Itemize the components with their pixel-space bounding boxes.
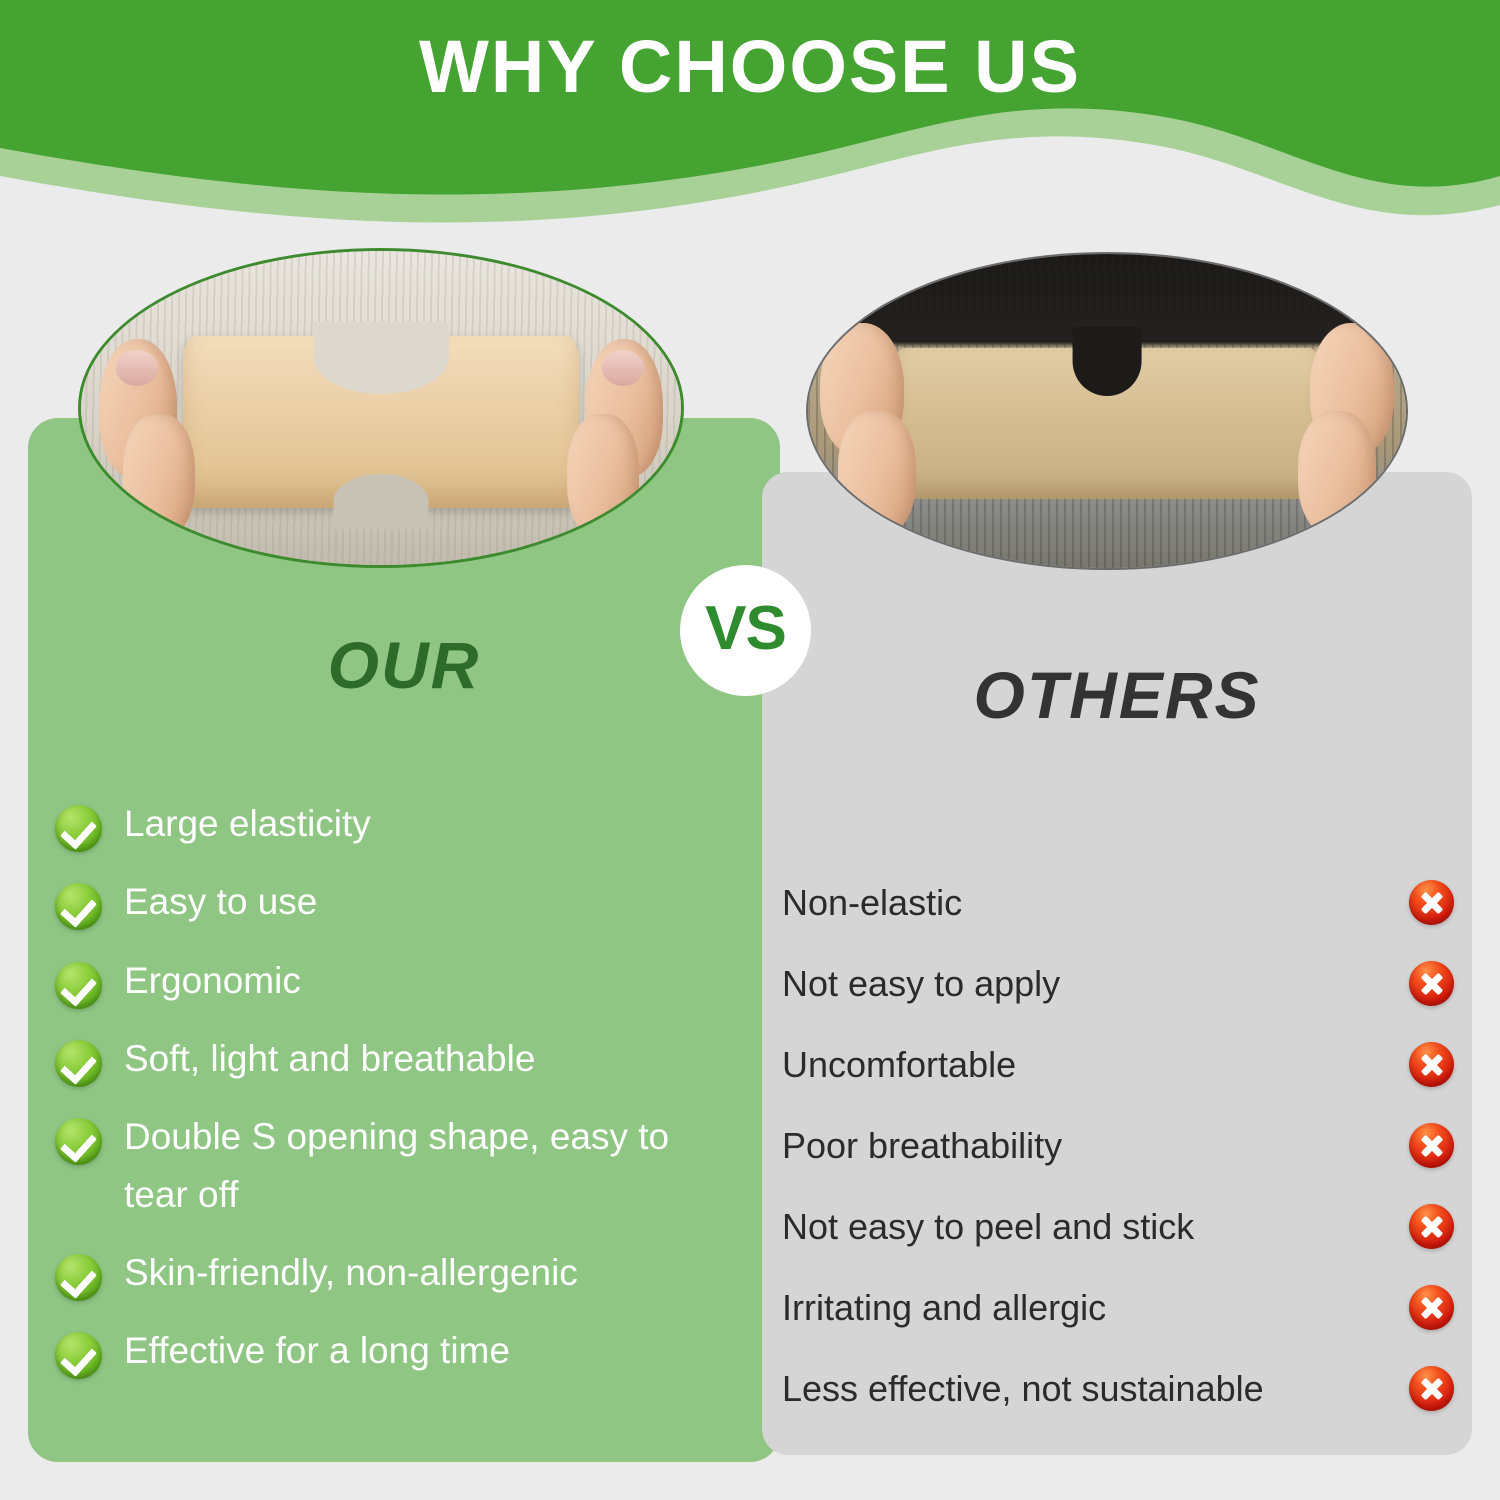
cross-circle-icon [1409,1366,1454,1411]
check-circle-icon [55,805,102,852]
others-heading: OTHERS [762,662,1472,728]
hand-left-finger [838,411,916,537]
list-item: Poor breathability [782,1105,1454,1186]
others-product-photo [806,252,1408,570]
others-item-label: Uncomfortable [782,1043,1016,1086]
page-title: WHY CHOOSE US [0,28,1500,106]
header-banner: WHY CHOOSE US [0,0,1500,240]
hand-left-finger [123,414,195,540]
check-circle-icon [55,1332,102,1379]
patch-notch [1073,327,1142,396]
cross-circle-icon [1409,961,1454,1006]
list-item: Ergonomic [55,952,755,1009]
others-item-label: Not easy to apply [782,962,1060,1005]
cross-circle-icon [1409,880,1454,925]
vs-label: VS [705,598,786,660]
list-item: Non-elastic [782,862,1454,943]
check-circle-icon [55,1118,102,1165]
product-patch [183,336,579,509]
list-item: Not easy to peel and stick [782,1186,1454,1267]
fingernail [116,350,158,386]
cross-circle-icon [1409,1042,1454,1087]
list-item: Easy to use [55,873,755,930]
others-item-label: Non-elastic [782,881,962,924]
our-item-label: Double S opening shape, easy to tear off [124,1108,724,1223]
list-item: Uncomfortable [782,1024,1454,1105]
list-item: Not easy to apply [782,943,1454,1024]
our-item-label: Ergonomic [124,952,301,1009]
list-item: Effective for a long time [55,1322,755,1379]
our-item-label: Effective for a long time [124,1322,510,1379]
list-item: Skin-friendly, non-allergenic [55,1244,755,1301]
others-drawback-list: Non-elastic Not easy to apply Uncomforta… [782,862,1454,1429]
list-item: Large elasticity [55,795,755,852]
check-circle-icon [55,1254,102,1301]
check-circle-icon [55,883,102,930]
others-item-label: Irritating and allergic [782,1286,1106,1329]
hand-right-finger [567,414,639,540]
check-circle-icon [55,962,102,1009]
our-heading: OUR [28,632,780,698]
list-item: Soft, light and breathable [55,1030,755,1087]
check-circle-icon [55,1040,102,1087]
patch-bottom-notch [333,474,428,529]
others-item-label: Poor breathability [782,1124,1062,1167]
others-item-label: Not easy to peel and stick [782,1205,1194,1248]
our-item-label: Easy to use [124,873,317,930]
fingernail [602,350,644,386]
our-feature-list: Large elasticity Easy to use Ergonomic S… [55,795,755,1401]
comparison-infographic: WHY CHOOSE US [0,0,1500,1500]
cross-circle-icon [1409,1204,1454,1249]
vs-badge: VS [680,565,811,696]
our-photo-scene [81,251,681,565]
our-item-label: Skin-friendly, non-allergenic [124,1244,578,1301]
others-photo-scene [808,254,1406,568]
our-item-label: Large elasticity [124,795,371,852]
hand-right-finger [1298,411,1376,537]
cross-circle-icon [1409,1285,1454,1330]
list-item: Double S opening shape, easy to tear off [55,1108,755,1223]
our-product-photo [78,248,684,568]
patch-top-notch [314,322,449,395]
list-item: Irritating and allergic [782,1267,1454,1348]
others-item-label: Less effective, not sustainable [782,1367,1264,1410]
competitor-patch [892,348,1323,499]
our-item-label: Soft, light and breathable [124,1030,535,1087]
cross-circle-icon [1409,1123,1454,1168]
list-item: Less effective, not sustainable [782,1348,1454,1429]
